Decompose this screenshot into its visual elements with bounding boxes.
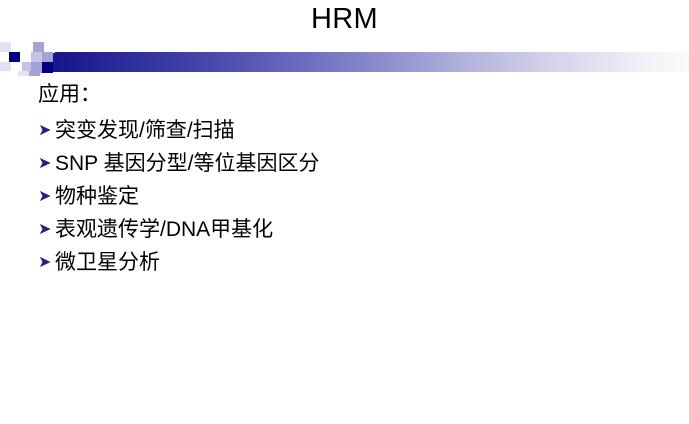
list-item: ➤ 表观遗传学/DNA甲基化 (38, 213, 658, 246)
arrow-bullet-icon: ➤ (38, 114, 53, 147)
list-item-label: SNP 基因分型/等位基因区分 (55, 152, 319, 175)
title-divider (0, 42, 689, 76)
list-item-label: 物种鉴定 (55, 185, 139, 208)
list-item: ➤ 突变发现/筛查/扫描 (38, 114, 658, 147)
slide-canvas: HRM (0, 0, 689, 424)
list-item-label: 突变发现/筛查/扫描 (55, 119, 235, 142)
list-item-label: 微卫星分析 (55, 251, 160, 274)
arrow-bullet-icon: ➤ (38, 213, 53, 246)
checker-cell (0, 71, 11, 76)
list-item: ➤ 物种鉴定 (38, 180, 658, 213)
gradient-bar (40, 52, 689, 72)
arrow-bullet-icon: ➤ (38, 180, 53, 213)
checker-cell (18, 71, 29, 76)
checker-cell (42, 62, 53, 73)
checker-decoration (0, 42, 64, 76)
list-item: ➤ SNP 基因分型/等位基因区分 (38, 147, 658, 180)
list-item-label: 表观遗传学/DNA甲基化 (55, 218, 273, 241)
arrow-bullet-icon: ➤ (38, 246, 53, 279)
application-bullet-list: ➤ 突变发现/筛查/扫描 ➤ SNP 基因分型/等位基因区分 ➤ 物种鉴定 ➤ … (38, 114, 658, 279)
list-item: ➤ 微卫星分析 (38, 246, 658, 279)
content-lead-label: 应用： (38, 80, 658, 110)
checker-cell (29, 71, 40, 76)
page-title: HRM (0, 0, 689, 42)
content-body: 应用： ➤ 突变发现/筛查/扫描 ➤ SNP 基因分型/等位基因区分 ➤ 物种鉴… (38, 80, 658, 279)
arrow-bullet-icon: ➤ (38, 147, 53, 180)
